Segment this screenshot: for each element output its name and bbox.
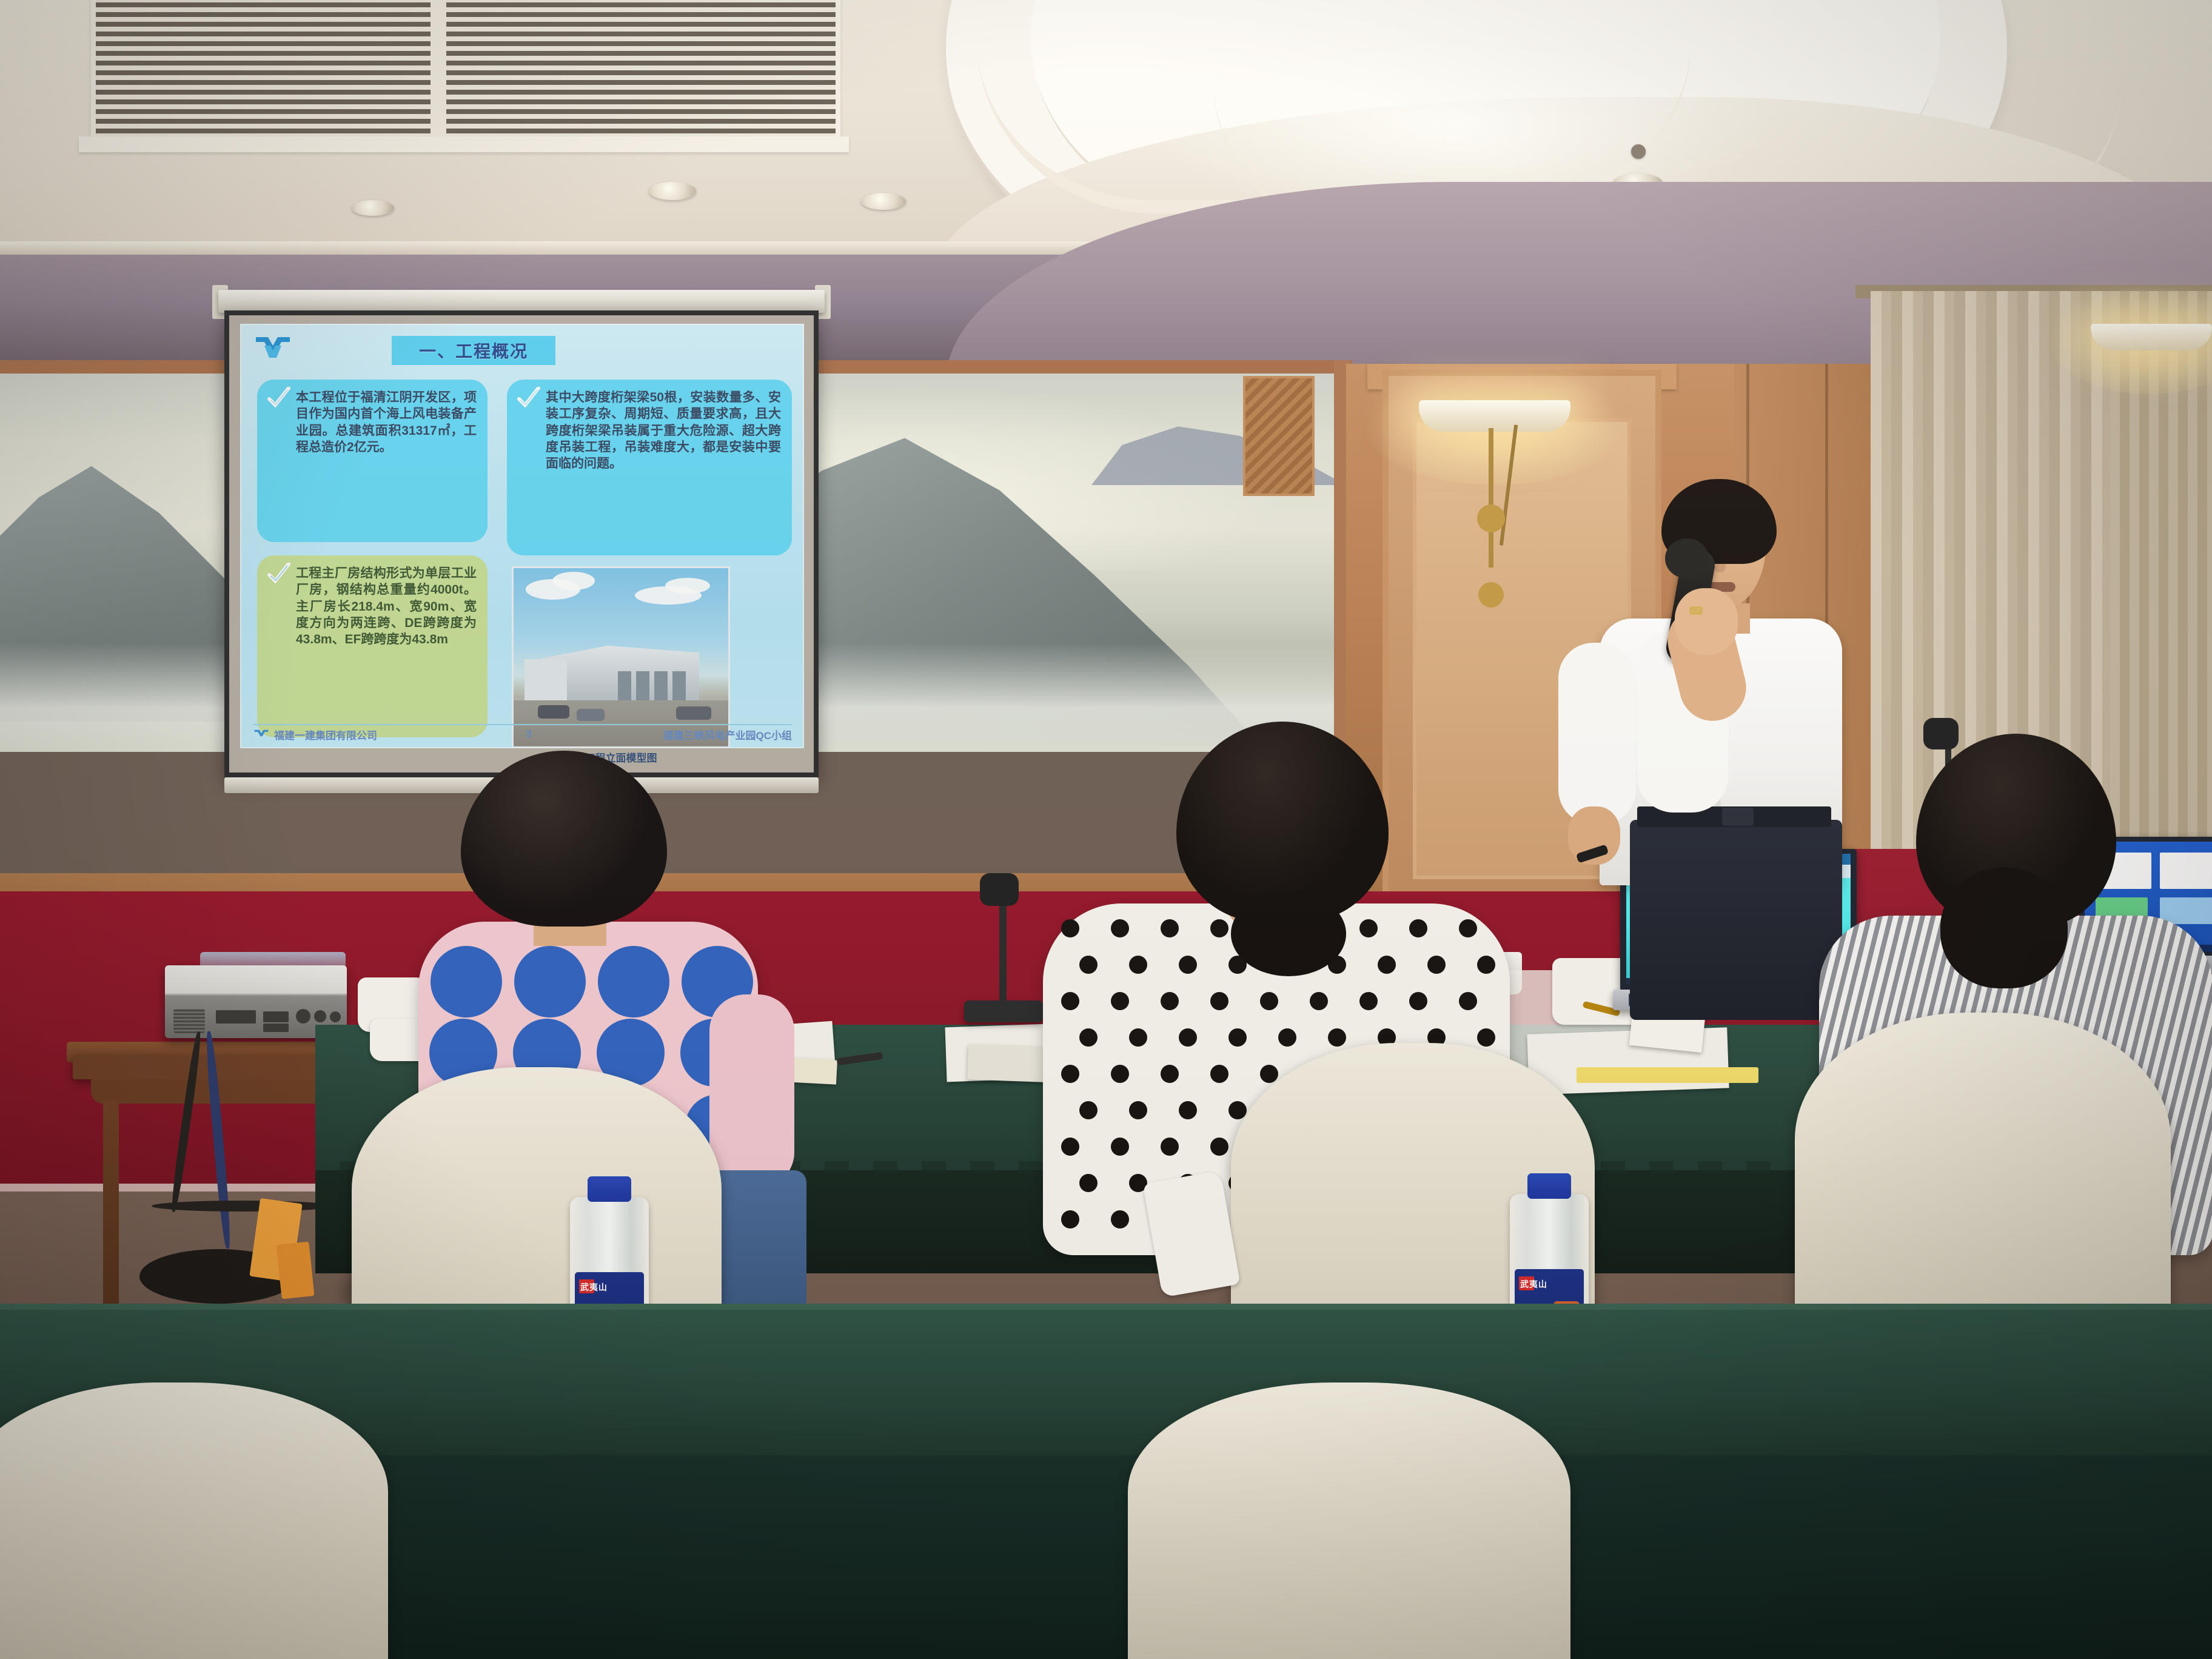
slide-photo-factory — [512, 566, 730, 748]
wall-sconce-shade — [1419, 400, 1570, 432]
company-logo-small-icon — [253, 728, 269, 740]
sconce-boss-icon — [1478, 582, 1504, 608]
presenter-belt-buckle — [1722, 808, 1754, 826]
slide-page-number: 3 — [447, 728, 610, 740]
bottle-brand-name: 武夷山 — [580, 1281, 608, 1293]
orange-bag-2 — [276, 1241, 314, 1299]
projector-vent-icon — [173, 1009, 205, 1033]
table-microphone-head-icon-2[interactable] — [1923, 718, 1959, 749]
blouse-polka-dot — [1079, 956, 1098, 974]
air-vent-slat — [96, 70, 836, 75]
blouse-polka-dot — [1161, 992, 1179, 1010]
blouse-polka-dot — [1111, 992, 1129, 1010]
attendee-center-hair-bun — [1231, 891, 1346, 976]
slide-bubble-structure-text: 工程主厂房结构形式为单层工业厂房，钢结构总重量约4000t。主厂房长218.4m… — [268, 565, 477, 648]
blouse-polka-dot — [1161, 1138, 1179, 1156]
blouse-polka-dot — [1079, 1174, 1098, 1192]
attendee-left-arm — [709, 994, 794, 1188]
slide-footer: 福建一建集团有限公司 3 福建三峡风电产业园QC小组 — [253, 724, 792, 743]
slide-bubble-truss-text: 其中大跨度桁架梁50根，安装数量多、安装工序复杂、周期短、质量要求高，且大跨度桁… — [518, 389, 781, 472]
air-vent-slat — [96, 90, 836, 95]
table-microphone-stem — [999, 891, 1007, 1007]
slide-title: 一、工程概况 — [392, 336, 555, 365]
air-vent-slat — [96, 51, 836, 56]
air-vent-slat — [96, 12, 836, 17]
company-logo-icon — [253, 333, 292, 363]
blouse-polka-dot — [1161, 1065, 1179, 1083]
downlight-icon — [649, 182, 696, 200]
blouse-polka-dot — [1079, 1028, 1098, 1047]
blouse-polka-dot — [1210, 1138, 1228, 1156]
air-vent-slat — [96, 32, 836, 36]
check-mark-icon — [267, 563, 291, 583]
blouse-polka-dot — [1111, 919, 1129, 937]
air-conditioning-vent-icon — [91, 0, 840, 146]
blouse-polka-dot — [1477, 1028, 1495, 1047]
blouse-polka-dot — [1111, 1138, 1129, 1156]
slide-bubble-structure: 工程主厂房结构形式为单层工业厂房，钢结构总重量约4000t。主厂房长218.4m… — [257, 555, 488, 737]
blouse-polka-dot — [1310, 992, 1328, 1010]
blouse-polka-dot — [1179, 1101, 1197, 1119]
check-mark-icon — [267, 387, 291, 407]
blouse-polka-dot — [1061, 1210, 1079, 1228]
air-vent-frame — [79, 136, 849, 152]
blouse-polka-dot — [1459, 992, 1477, 1010]
air-vent-slat — [96, 2, 836, 7]
chair-cover-front[interactable] — [0, 1382, 388, 1659]
blouse-polka-dot — [1061, 992, 1079, 1010]
blouse-polka-dot — [1210, 919, 1228, 937]
conference-room-photo: 一、工程概况 本工程位于福清江阴开发区，项目作为国内首个海上风电装备产业园。总建… — [0, 0, 2212, 1659]
cable-coil — [152, 1201, 333, 1212]
blouse-polka-dot — [1061, 1138, 1079, 1156]
slide-footer-team: 福建三峡风电产业园QC小组 — [610, 727, 792, 742]
chair-cover-front[interactable] — [1128, 1382, 1570, 1659]
blouse-polka-dot — [1129, 956, 1147, 974]
bottle-brand-name: 武夷山 — [1520, 1278, 1547, 1290]
blouse-polka-dot — [1228, 1028, 1247, 1047]
air-vent-slat — [96, 80, 836, 85]
downlight-icon — [352, 200, 394, 216]
slide-photo-building-2 — [525, 659, 567, 702]
table-microphone-head-icon[interactable] — [980, 873, 1019, 906]
blouse-polka-dot — [1328, 1028, 1346, 1047]
air-vent-slat — [96, 109, 836, 114]
blouse-polka-dot — [1111, 1210, 1129, 1228]
air-vent-slat — [96, 41, 836, 46]
slide-footer-left-wrap: 福建一建集团有限公司 — [253, 727, 447, 742]
presenter-ring — [1689, 606, 1703, 615]
projection-screen-surface: 一、工程概况 本工程位于福清江阴开发区，项目作为国内首个海上风电装备产业园。总建… — [229, 315, 814, 773]
air-vent-slat — [96, 129, 836, 133]
blouse-polka-dot — [1409, 919, 1427, 937]
microphone-head-icon — [1665, 538, 1709, 578]
slide-footer-company: 福建一建集团有限公司 — [274, 727, 377, 742]
blouse-polka-dot — [1359, 992, 1378, 1010]
blouse-polka-dot — [1161, 919, 1179, 937]
blouse-polka-dot — [1061, 1065, 1079, 1083]
blouse-polka-dot — [1359, 919, 1378, 937]
air-vent-slat — [96, 61, 836, 65]
presenter-trousers — [1630, 820, 1842, 1020]
air-vent-slat — [96, 119, 836, 124]
blouse-polka-dot — [1427, 956, 1446, 974]
bottle-cap[interactable] — [1527, 1173, 1572, 1199]
blouse-polka-dot — [1129, 1028, 1147, 1047]
blouse-polka-dot — [598, 946, 669, 1017]
projection-screen-case — [218, 290, 825, 313]
presenter-left-arm — [1558, 643, 1636, 825]
slide-bubble-overview-text: 本工程位于福清江阴开发区，项目作为国内首个海上风电装备产业园。总建筑面积3131… — [268, 389, 477, 455]
presentation-slide: 一、工程概况 本工程位于福清江阴开发区，项目作为国内首个海上风电装备产业园。总建… — [240, 324, 804, 748]
blouse-polka-dot — [1260, 992, 1278, 1010]
slide-bubble-overview: 本工程位于福清江阴开发区，项目作为国内首个海上风电装备产业园。总建筑面积3131… — [257, 380, 488, 542]
air-vent-divider — [431, 0, 446, 136]
blouse-polka-dot — [1179, 956, 1197, 974]
blouse-polka-dot — [1378, 956, 1396, 974]
sconce-boss-icon — [1477, 504, 1505, 532]
check-mark-icon — [517, 387, 541, 407]
bottle-cap[interactable] — [588, 1176, 632, 1202]
blouse-polka-dot — [514, 946, 586, 1017]
blouse-polka-dot — [1278, 1028, 1296, 1047]
blouse-polka-dot — [1477, 956, 1495, 974]
attendee-right-ponytail — [1940, 867, 2068, 988]
air-vent-slat — [96, 99, 836, 104]
air-vent-slat — [96, 22, 836, 27]
blouse-polka-dot — [1459, 919, 1477, 937]
sprinkler-head-icon — [1631, 144, 1646, 159]
yellow-folder — [1577, 1067, 1758, 1083]
slide-bubble-truss: 其中大跨度桁架梁50根，安装数量多、安装工序复杂、周期短、质量要求高，且大跨度桁… — [507, 380, 792, 555]
blouse-polka-dot — [1129, 1101, 1147, 1119]
sconce-arm — [1489, 428, 1493, 568]
blouse-polka-dot — [1061, 919, 1079, 937]
blouse-polka-dot — [1179, 1028, 1197, 1047]
blouse-polka-dot — [1409, 992, 1427, 1010]
blouse-polka-dot — [1111, 1065, 1129, 1083]
blouse-polka-dot — [1210, 992, 1228, 1010]
downlight-icon — [861, 193, 906, 210]
presenter-right-hand — [1675, 588, 1738, 655]
carved-wood-ornament — [1243, 376, 1315, 496]
blouse-polka-dot — [1079, 1101, 1098, 1119]
blouse-polka-dot — [1260, 1065, 1278, 1083]
wall-sconce-shade-2 — [2091, 324, 2212, 350]
blouse-polka-dot — [431, 946, 502, 1017]
blouse-polka-dot — [1228, 1101, 1247, 1119]
blouse-polka-dot — [1210, 1065, 1228, 1083]
